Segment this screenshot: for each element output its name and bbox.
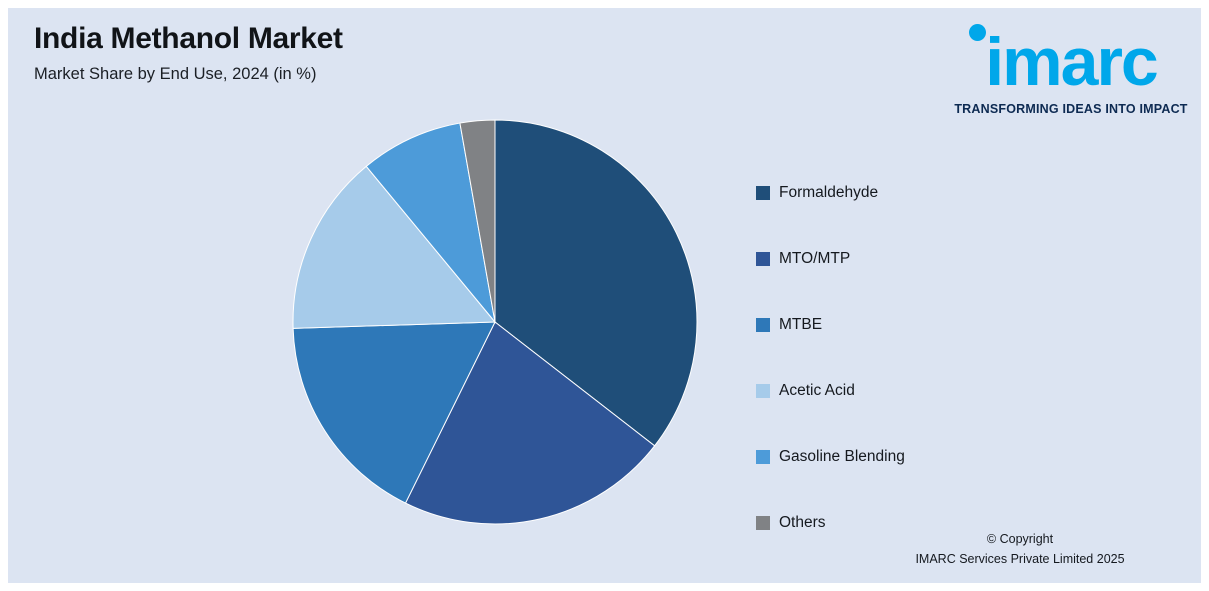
legend-label: Formaldehyde [779,184,878,202]
legend-swatch-icon [756,252,770,266]
legend-label: Gasoline Blending [779,448,905,466]
copyright-line-2: IMARC Services Private Limited 2025 [855,550,1185,569]
imarc-logo: imarc TRANSFORMING IDEAS INTO IMPACT [951,22,1191,100]
logo-wordmark: imarc [951,28,1191,96]
pie-chart-svg [283,110,707,534]
logo-tagline: TRANSFORMING IDEAS INTO IMPACT [951,102,1191,116]
chart-header: India Methanol Market Market Share by En… [34,22,674,84]
legend-item-formaldehyde[interactable]: Formaldehyde [756,160,1086,226]
legend-swatch-icon [756,318,770,332]
page-title: India Methanol Market [34,22,674,57]
legend-label: MTBE [779,316,822,334]
pie-chart [283,110,707,534]
legend-label: MTO/MTP [779,250,850,268]
legend-item-acetic-acid[interactable]: Acetic Acid [756,358,1086,424]
legend-label: Acetic Acid [779,382,855,400]
legend-swatch-icon [756,516,770,530]
chart-canvas: India Methanol Market Market Share by En… [8,8,1201,583]
legend-item-gasoline-blending[interactable]: Gasoline Blending [756,424,1086,490]
legend-swatch-icon [756,450,770,464]
legend-item-mtbe[interactable]: MTBE [756,292,1086,358]
legend-swatch-icon [756,384,770,398]
legend-swatch-icon [756,186,770,200]
legend-item-mto-mtp[interactable]: MTO/MTP [756,226,1086,292]
copyright-block: © Copyright IMARC Services Private Limit… [855,530,1185,569]
chart-subtitle: Market Share by End Use, 2024 (in %) [34,65,674,84]
logo-mark: imarc TRANSFORMING IDEAS INTO IMPACT [951,22,1191,100]
chart-legend: FormaldehydeMTO/MTPMTBEAcetic AcidGasoli… [756,160,1086,556]
legend-label: Others [779,514,826,532]
copyright-line-1: © Copyright [855,530,1185,549]
